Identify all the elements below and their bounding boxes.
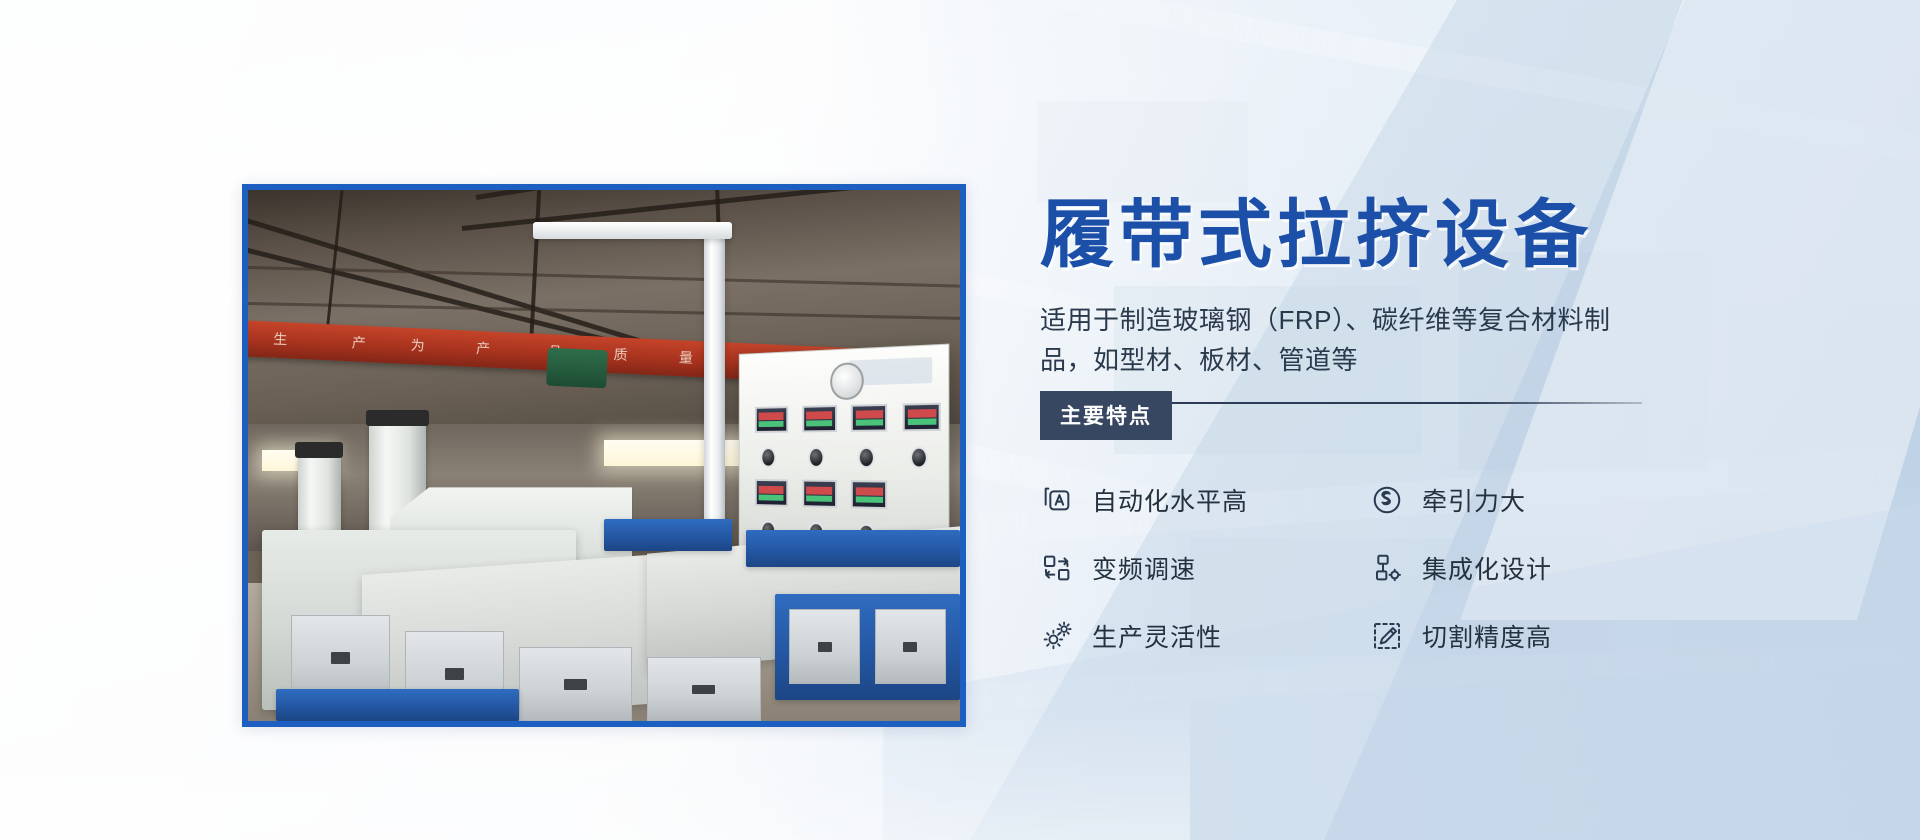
feature-item-integration: 集成化设计 bbox=[1370, 550, 1700, 586]
product-photo-frame: 生 产 为 产 品 质 量 bbox=[242, 184, 966, 727]
status-badge: 主要特点 bbox=[1040, 391, 1172, 440]
frequency-icon bbox=[1040, 551, 1074, 585]
photo-blue-base-2 bbox=[604, 519, 732, 551]
feature-item-frequency: 变频调速 bbox=[1040, 550, 1370, 586]
feature-item-cutting: 切割精度高 bbox=[1370, 618, 1700, 654]
photo-blue-base-1 bbox=[276, 689, 518, 721]
integration-icon bbox=[1370, 551, 1404, 585]
photo-cabinet-4 bbox=[647, 657, 761, 721]
feature-label: 集成化设计 bbox=[1422, 550, 1552, 586]
banner-content: 履带式拉挤设备 适用于制造玻璃钢（FRP）、碳纤维等复合材料制品，如型材、板材、… bbox=[1040, 196, 1700, 654]
cutting-icon bbox=[1370, 619, 1404, 653]
traction-icon bbox=[1370, 483, 1404, 517]
photo-gantry-arm bbox=[533, 222, 732, 239]
photo-crane-hoist bbox=[546, 348, 608, 389]
photo-cabinet-1 bbox=[291, 615, 391, 700]
photo-window-1 bbox=[604, 440, 761, 467]
photo-blue-base-3 bbox=[746, 530, 960, 567]
page-title: 履带式拉挤设备 bbox=[1040, 196, 1700, 274]
page-subtitle: 适用于制造玻璃钢（FRP）、碳纤维等复合材料制品，如型材、板材、管道等 bbox=[1040, 300, 1640, 381]
photo-cabinet-5 bbox=[789, 609, 860, 683]
badge-row: 主要特点 bbox=[1040, 391, 1700, 440]
gears-icon bbox=[1040, 619, 1074, 653]
photo-cabinet-3 bbox=[519, 647, 633, 721]
product-photo: 生 产 为 产 品 质 量 bbox=[248, 190, 960, 721]
feature-label: 生产灵活性 bbox=[1092, 618, 1222, 654]
feature-label: 变频调速 bbox=[1092, 550, 1196, 586]
feature-label: 牵引力大 bbox=[1422, 482, 1526, 518]
feature-list: 自动化水平高 牵引力大 bbox=[1040, 482, 1700, 654]
automation-icon bbox=[1040, 483, 1074, 517]
feature-label: 切割精度高 bbox=[1422, 618, 1552, 654]
feature-item-automation: 自动化水平高 bbox=[1040, 482, 1370, 518]
feature-label: 自动化水平高 bbox=[1092, 482, 1248, 518]
feature-item-flexibility: 生产灵活性 bbox=[1040, 618, 1370, 654]
product-banner: 生 产 为 产 品 质 量 bbox=[0, 0, 1920, 840]
photo-cabinet-6 bbox=[875, 609, 946, 683]
feature-item-traction: 牵引力大 bbox=[1370, 482, 1700, 518]
